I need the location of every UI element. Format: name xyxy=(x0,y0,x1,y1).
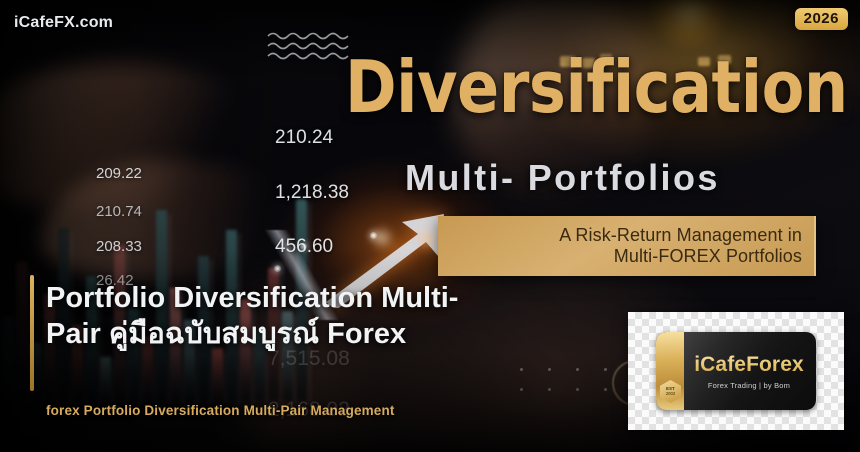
grid-dot xyxy=(604,368,607,371)
hero-subtitle: Multi- Portfolios xyxy=(405,157,720,199)
chart-bar xyxy=(16,262,27,400)
price-value: 210.74 xyxy=(96,203,142,220)
logo-brand-tagline: Forex Trading | by Bom xyxy=(708,381,790,390)
chart-bar xyxy=(2,317,13,400)
year-badge: 2026 xyxy=(795,8,848,30)
chart-bar xyxy=(100,357,111,400)
grid-dot xyxy=(576,388,579,391)
logo-brand-name: iCafeForex xyxy=(694,353,804,377)
tagline-box: A Risk-Return Management in Multi-FOREX … xyxy=(438,216,816,276)
headline-subline: forex Portfolio Diversification Multi-Pa… xyxy=(46,403,395,418)
logo-card-container[interactable]: EST 2002 iCafeForex Forex Trading | by B… xyxy=(628,312,844,430)
grid-dot xyxy=(548,368,551,371)
grid-dot xyxy=(604,388,607,391)
price-value: 209.22 xyxy=(96,165,142,182)
grid-dot xyxy=(520,388,523,391)
headline-text: Portfolio Diversification Multi-Pair คู่… xyxy=(46,281,506,352)
bokeh-light xyxy=(372,228,392,248)
grid-dot xyxy=(520,368,523,371)
est-badge-year: 2002 xyxy=(666,392,675,396)
price-value: 210.24 xyxy=(275,127,333,149)
logo-card[interactable]: EST 2002 iCafeForex Forex Trading | by B… xyxy=(656,332,816,410)
wave-lines-icon xyxy=(266,30,356,64)
price-value: 456.60 xyxy=(275,236,333,258)
chart-bar xyxy=(212,348,223,400)
price-value: 1,218.38 xyxy=(275,182,349,204)
bokeh-light xyxy=(420,232,434,246)
grid-dot xyxy=(576,368,579,371)
hero-title: Diversification xyxy=(345,52,848,123)
tagline-line-1: A Risk-Return Management in xyxy=(559,225,802,245)
tagline-line-2: Multi-FOREX Portfolios xyxy=(614,246,802,266)
chart-node xyxy=(274,265,281,272)
grid-dot xyxy=(548,388,551,391)
headline-accent-bar xyxy=(30,275,34,391)
price-value: 208.33 xyxy=(96,238,142,255)
site-watermark: iCafeFX.com xyxy=(14,14,113,32)
poster-canvas: 209.22210.74208.3326.42210.241,218.38456… xyxy=(0,0,860,452)
